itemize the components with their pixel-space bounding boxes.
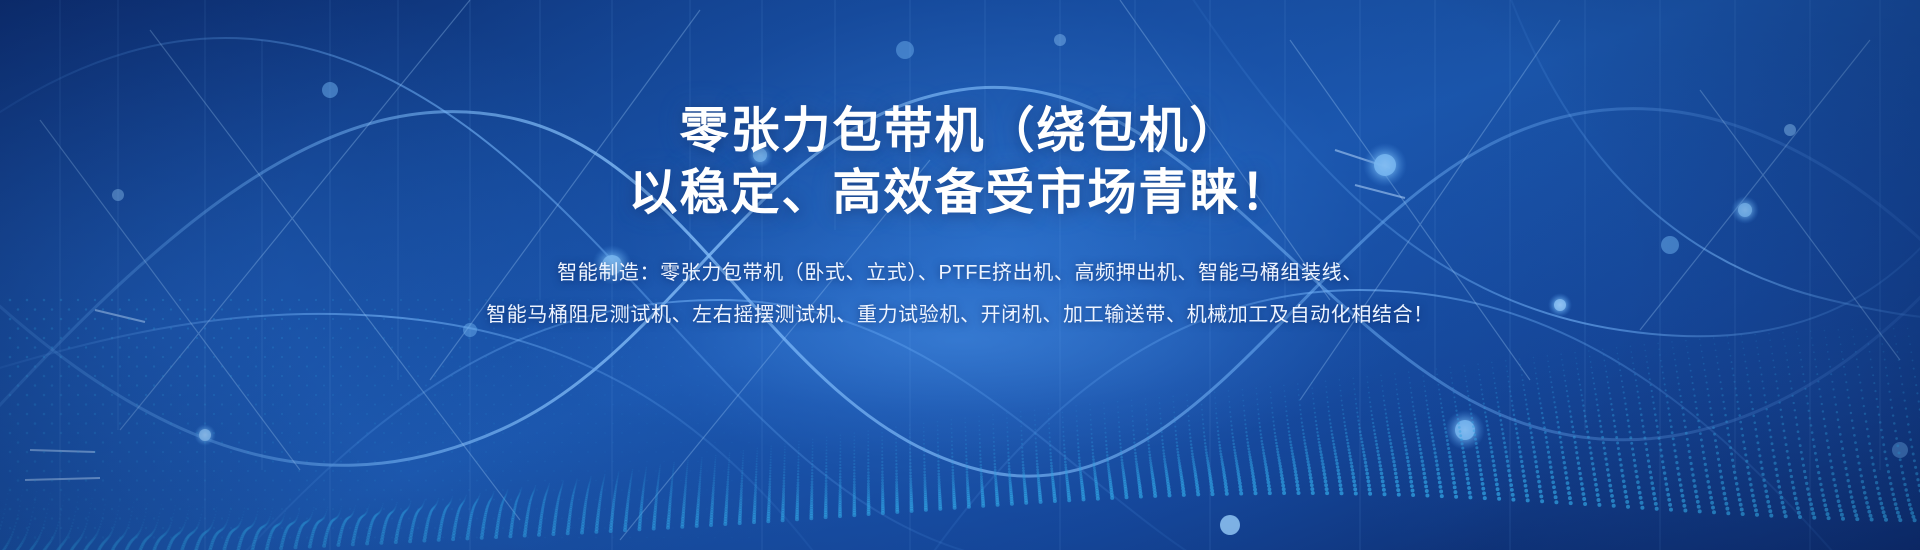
headline-line-1: 零张力包带机（绕包机） xyxy=(628,100,1291,162)
headline-line-2: 以稳定、高效备受市场青睐！ xyxy=(628,162,1291,224)
subtitle-line-2: 智能马桶阻尼测试机、左右摇摆测试机、重力试验机、开闭机、加工输送带、机械加工及自… xyxy=(486,294,1434,336)
headline-block: 零张力包带机（绕包机） 以稳定、高效备受市场青睐！ xyxy=(628,100,1291,224)
subtitle-line-1: 智能制造：零张力包带机（卧式、立式）、PTFE挤出机、高频押出机、智能马桶组装线… xyxy=(486,252,1434,294)
subtitle-block: 智能制造：零张力包带机（卧式、立式）、PTFE挤出机、高频押出机、智能马桶组装线… xyxy=(486,252,1434,336)
promo-banner: 零张力包带机（绕包机） 以稳定、高效备受市场青睐！ 智能制造：零张力包带机（卧式… xyxy=(0,0,1920,550)
banner-content: 零张力包带机（绕包机） 以稳定、高效备受市场青睐！ 智能制造：零张力包带机（卧式… xyxy=(0,0,1920,550)
